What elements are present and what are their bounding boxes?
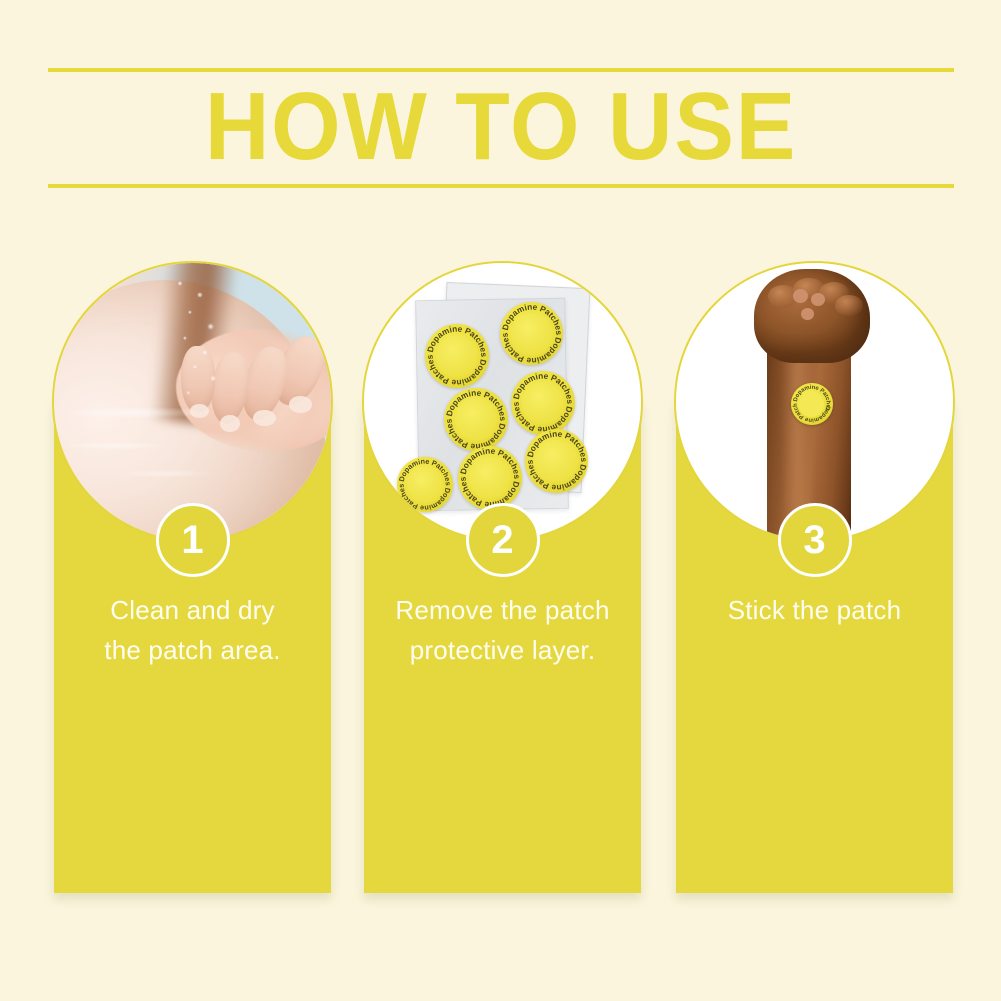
step-caption-2-line1: Remove the patch xyxy=(370,590,635,630)
step-caption-2-line2: protective layer. xyxy=(370,630,635,670)
svg-text:Dopamine Patches: Dopamine Patches xyxy=(445,388,507,421)
patch-label-ring-3: Dopamine Patches Dopamine Patches xyxy=(444,388,508,452)
step-card-2: Dopamine Patches Dopamine Patches Dopami… xyxy=(364,383,641,893)
step-number-3: 3 xyxy=(803,520,825,560)
patch-text-2: Dopamine Patches xyxy=(501,302,563,335)
step-card-1: 1 Clean and dry the patch area. xyxy=(54,383,331,893)
step-caption-1-line1: Clean and dry xyxy=(60,590,325,630)
patch-text-1: Dopamine Patches xyxy=(426,324,488,357)
patch-label-ring-1: Dopamine Patches Dopamine Patches xyxy=(425,324,489,388)
svg-text:Dopamine Patches: Dopamine Patches xyxy=(397,457,452,486)
applied-patch-label-ring: Dopamine Patches Dopamine Patches xyxy=(791,383,833,425)
patch-sticker-7: Dopamine Patches Dopamine Patches xyxy=(397,457,452,512)
svg-text:Dopamine Patches: Dopamine Patches xyxy=(501,302,563,335)
step-caption-1: Clean and dry the patch area. xyxy=(54,590,331,670)
svg-text:Dopamine Patches: Dopamine Patches xyxy=(426,324,488,357)
patch-text-6b: Dopamine Patches xyxy=(525,459,587,492)
step-number-badge-3: 3 xyxy=(778,503,852,577)
knuckle-4 xyxy=(835,295,863,316)
patch-sticker-4: Dopamine Patches Dopamine Patches xyxy=(511,371,575,435)
step-number-badge-1: 1 xyxy=(156,503,230,577)
clenched-fist xyxy=(754,269,870,363)
patch-label-ring-6: Dopamine Patches Dopamine Patches xyxy=(525,429,589,493)
steps-container: 1 Clean and dry the patch area. xyxy=(0,0,1001,1001)
step-number-1: 1 xyxy=(181,520,203,560)
patch-text-7: Dopamine Patches xyxy=(397,457,452,486)
step-card-3: Dopamine Patches Dopamine Patches 3 Stic… xyxy=(676,383,953,893)
fingernail-3 xyxy=(801,308,814,320)
step-number-2: 2 xyxy=(491,520,513,560)
svg-text:Dopamine Patches: Dopamine Patches xyxy=(500,332,562,365)
patch-text-4: Dopamine Patches xyxy=(512,372,574,405)
svg-text:Dopamine Patches: Dopamine Patches xyxy=(512,372,574,405)
patch-text-5: Dopamine Patches xyxy=(459,446,521,479)
fingernail-2 xyxy=(811,293,825,306)
svg-text:Dopamine Patches: Dopamine Patches xyxy=(397,483,452,512)
patch-sticker-1: Dopamine Patches Dopamine Patches xyxy=(425,324,489,388)
svg-text:Dopamine Patches: Dopamine Patches xyxy=(425,354,487,387)
how-to-use-infographic: HOW TO USE xyxy=(0,0,1001,1001)
patch-text-2b: Dopamine Patches xyxy=(500,332,562,365)
patch-sticker-3: Dopamine Patches Dopamine Patches xyxy=(444,388,508,452)
patch-label-ring-7: Dopamine Patches Dopamine Patches xyxy=(397,457,452,512)
patch-text-6: Dopamine Patches xyxy=(526,430,588,463)
step-caption-3: Stick the patch xyxy=(676,590,953,630)
applied-patch: Dopamine Patches Dopamine Patches xyxy=(791,383,833,425)
step-caption-3-line1: Stick the patch xyxy=(682,590,947,630)
step-number-badge-2: 2 xyxy=(466,503,540,577)
patch-text-3: Dopamine Patches xyxy=(445,388,507,421)
svg-text:Dopamine Patches: Dopamine Patches xyxy=(525,459,587,492)
step-3-photo: Dopamine Patches Dopamine Patches xyxy=(674,261,955,542)
step-1-photo xyxy=(52,261,333,542)
patch-sticker-6: Dopamine Patches Dopamine Patches xyxy=(525,429,589,493)
patch-text-1b: Dopamine Patches xyxy=(425,354,487,387)
patch-text-7b: Dopamine Patches xyxy=(397,483,452,512)
svg-text:Dopamine Patches: Dopamine Patches xyxy=(459,446,521,479)
patch-sticker-2: Dopamine Patches Dopamine Patches xyxy=(500,302,564,366)
patch-label-ring-5: Dopamine Patches Dopamine Patches xyxy=(458,446,522,510)
patch-sticker-5: Dopamine Patches Dopamine Patches xyxy=(458,446,522,510)
step-2-photo: Dopamine Patches Dopamine Patches Dopami… xyxy=(362,261,643,542)
fingernail-1 xyxy=(793,289,808,303)
water-streaks xyxy=(54,263,331,540)
step-caption-2: Remove the patch protective layer. xyxy=(364,590,641,670)
svg-text:Dopamine Patches: Dopamine Patches xyxy=(526,430,588,463)
patch-label-ring-4: Dopamine Patches Dopamine Patches xyxy=(511,371,575,435)
step-caption-1-line2: the patch area. xyxy=(60,630,325,670)
patch-label-ring-2: Dopamine Patches Dopamine Patches xyxy=(500,302,564,366)
